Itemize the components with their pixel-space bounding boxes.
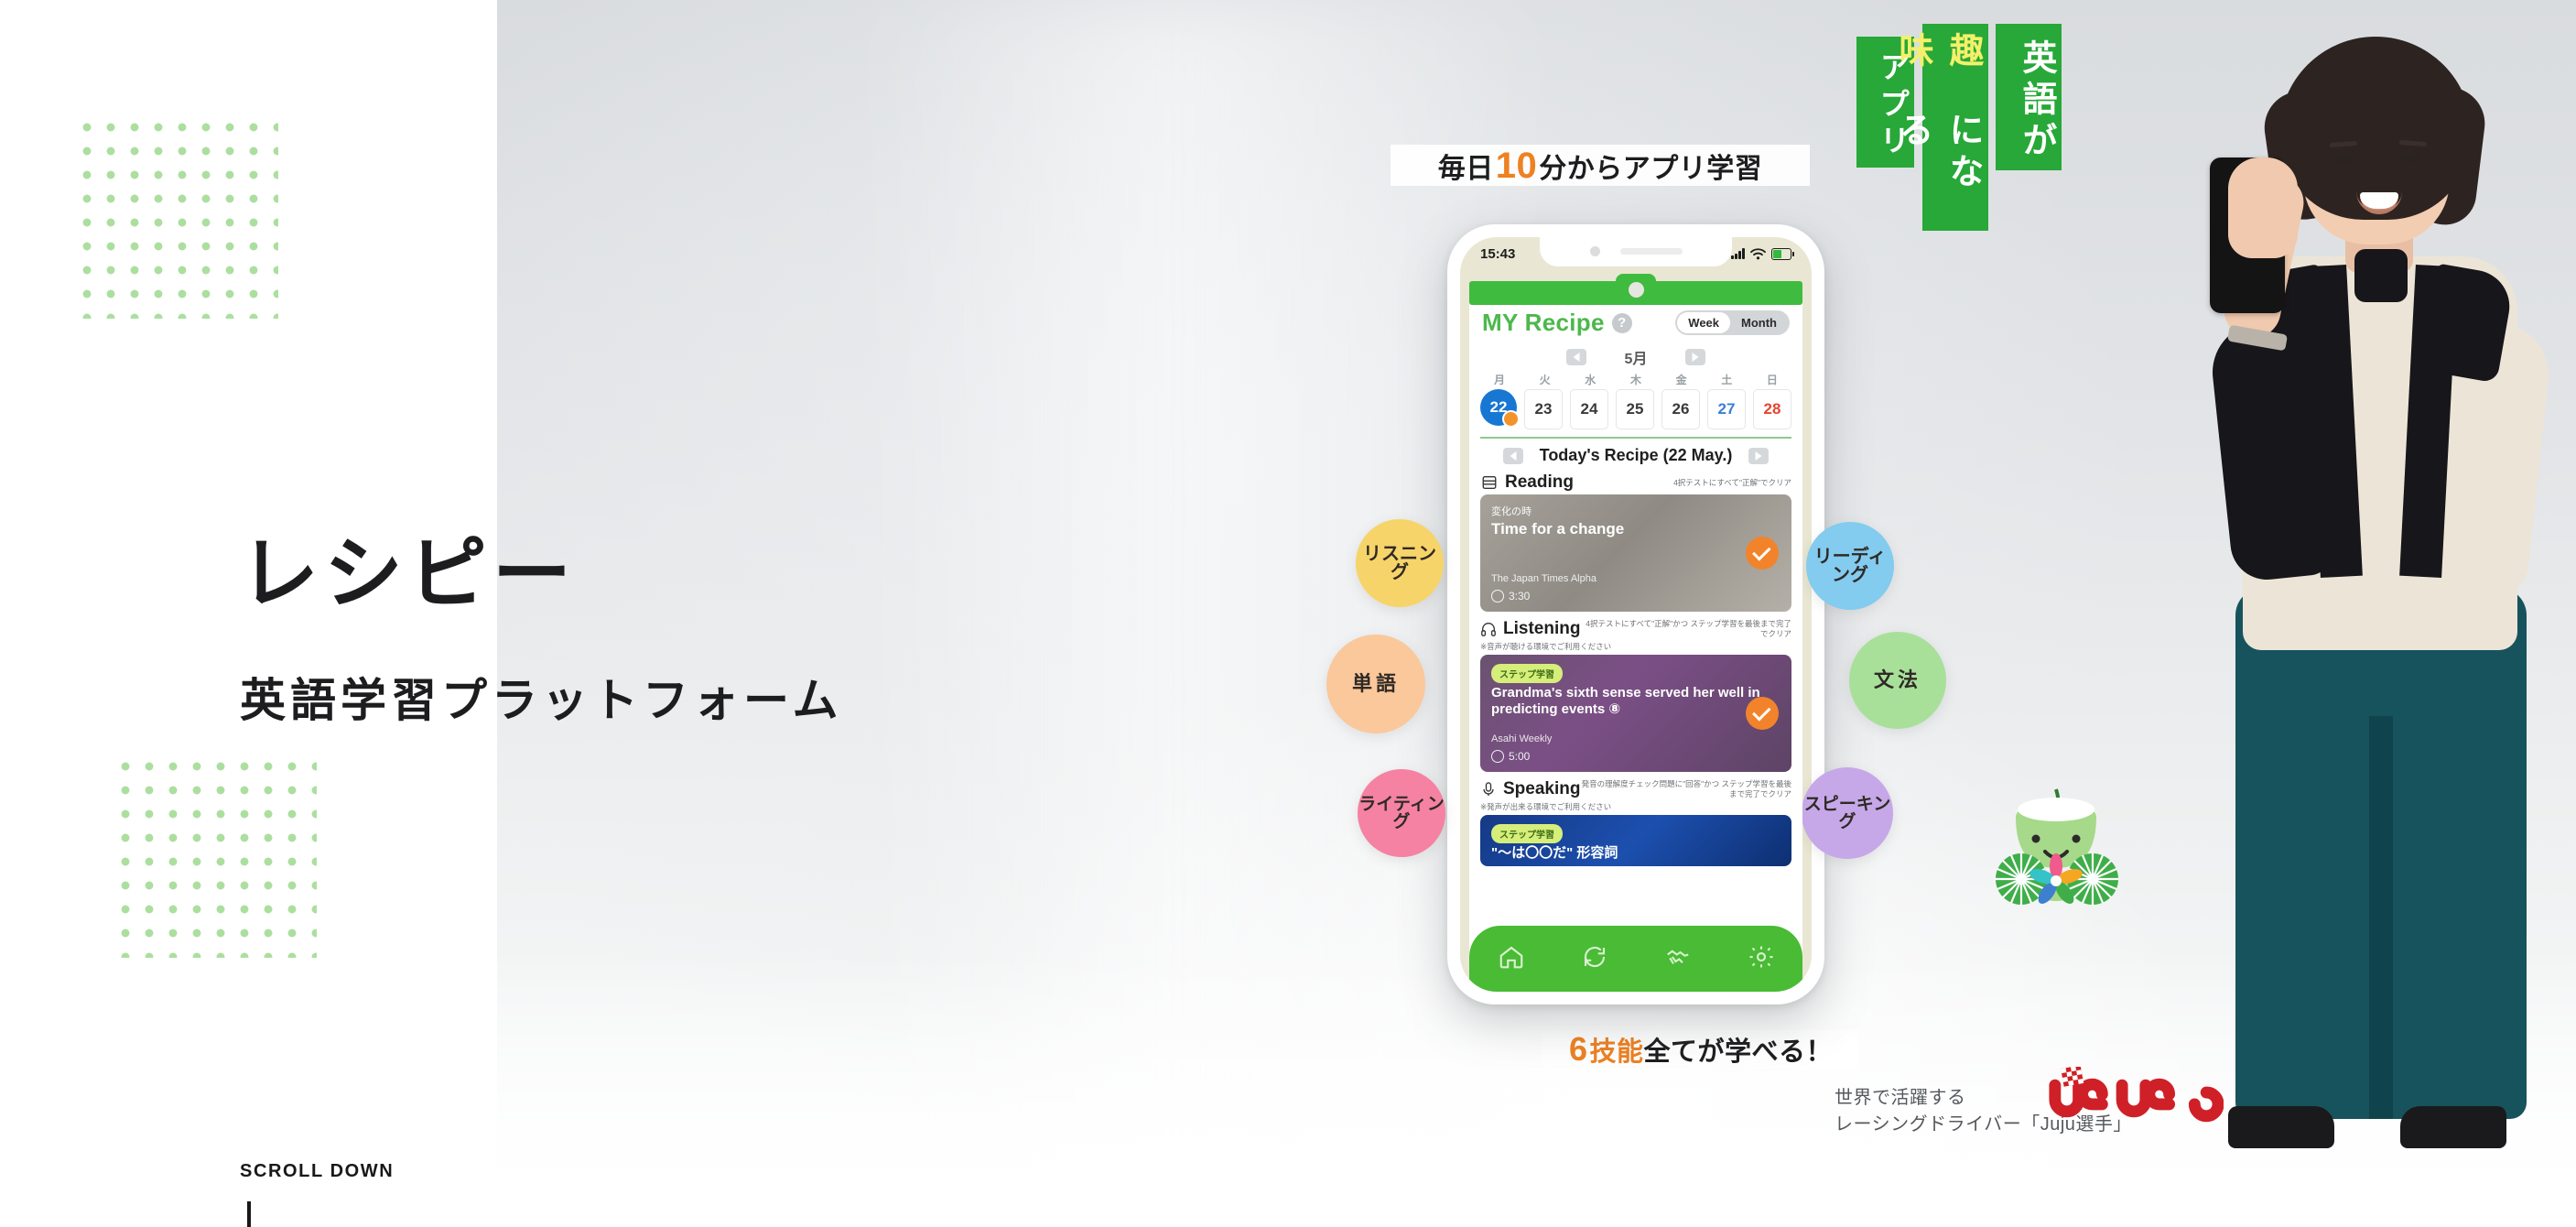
caption-top-number: 10 (1496, 147, 1538, 184)
segment-month[interactable]: Month (1730, 312, 1788, 333)
speaking-card[interactable]: ステップ学習 "〜は〇〇だ" 形容詞 (1480, 815, 1791, 866)
handshake-icon[interactable] (1664, 943, 1692, 975)
page-title: レシピー (240, 535, 577, 613)
banner-hobby: 趣味になる (1922, 24, 1988, 231)
bubble-grammar: 文法 (1849, 632, 1946, 729)
model-pants-split (2369, 716, 2393, 1119)
weekday-sun: 日 (1753, 372, 1791, 387)
listening-card-duration: 5:00 (1491, 750, 1530, 763)
weekday-thu: 木 (1617, 372, 1655, 387)
caption-bottom-number: 6 (1569, 1033, 1588, 1066)
todays-recipe-navigator: Today's Recipe (22 May.) (1469, 446, 1802, 465)
home-icon[interactable] (1498, 943, 1525, 975)
phone-mockup: 15:43 MY Recipe (1447, 224, 1824, 1004)
model-eye-right (2402, 155, 2420, 162)
dot-pattern-bottom (110, 751, 317, 958)
section-header-speaking: Speaking 発音の理解度チェック問題に"回答"かつ ステップ学習を最後まで… (1469, 772, 1802, 801)
calendar-day-26[interactable]: 26 (1661, 389, 1700, 429)
status-icons (1731, 248, 1791, 260)
listening-complete-check-icon (1746, 697, 1779, 730)
calendar-day-23[interactable]: 23 (1524, 389, 1563, 429)
wifi-icon (1750, 248, 1766, 260)
section-sub-listening: ※音声が聴ける環境でご利用ください (1469, 641, 1802, 655)
section-name-reading: Reading (1505, 472, 1574, 493)
refresh-icon[interactable] (1581, 943, 1608, 975)
reading-card-duration: 3:30 (1491, 590, 1530, 603)
bubble-speaking: スピーキング (1802, 767, 1893, 859)
clock-icon (1491, 750, 1504, 763)
segment-week[interactable]: Week (1677, 312, 1730, 333)
front-camera-icon (1590, 246, 1600, 256)
scroll-down-label[interactable]: SCROLL DOWN (240, 1161, 394, 1182)
calendar-day-27[interactable]: 27 (1707, 389, 1746, 429)
weekday-wed: 水 (1571, 372, 1609, 387)
mascot-icon (1964, 782, 2148, 965)
page-subtitle: 英語学習プラットフォーム (240, 678, 843, 723)
reading-duration-value: 3:30 (1509, 590, 1530, 603)
listening-step-badge: ステップ学習 (1491, 664, 1563, 683)
section-name-listening: Listening (1503, 619, 1580, 639)
listening-duration-value: 5:00 (1509, 750, 1530, 763)
calendar-day-28[interactable]: 28 (1753, 389, 1791, 429)
bubble-vocabulary: 単語 (1326, 635, 1425, 733)
bubble-vocabulary-label: 単語 (1352, 674, 1400, 694)
scroll-down-line (247, 1201, 251, 1227)
section-note-speaking: 発音の理解度チェック問題に"回答"かつ ステップ学習を最後まで完了でクリア (1580, 779, 1791, 798)
model-shoe-left (2228, 1106, 2334, 1148)
gear-icon[interactable] (1748, 943, 1775, 975)
caption-bottom-rest: 全てが学べる！ (1644, 1030, 1834, 1069)
app-bottom-nav (1469, 926, 1802, 992)
caption-six-skills: 6技能全てが学べる！ (1542, 1030, 1858, 1069)
caption-top-pre: 毎日 (1438, 146, 1494, 186)
calendar-day-25[interactable]: 25 (1616, 389, 1654, 429)
calendar-days: 22 23 24 25 26 27 28 (1469, 387, 1802, 429)
section-sub-speaking: ※発声が出来る環境でご利用ください (1469, 801, 1802, 815)
section-header-listening: Listening 4択テストにすべて"正解"かつ ステップ学習を最後まで完了で… (1469, 612, 1802, 641)
book-icon (1480, 473, 1499, 492)
app-title: MY Recipe (1482, 309, 1605, 337)
banner-hobby-highlight: 趣味 (1888, 32, 1988, 112)
model-shoe-right (2400, 1106, 2506, 1148)
hero-stage: レシピー 英語学習プラットフォーム SCROLL DOWN アプリ 趣味になる … (0, 0, 2576, 1227)
bubble-grammar-label: 文法 (1874, 670, 1921, 690)
earpiece-speaker (1620, 248, 1683, 255)
bubble-listening: リスニング (1356, 519, 1444, 607)
phone-screen: 15:43 MY Recipe (1460, 237, 1812, 992)
battery-icon (1771, 248, 1791, 260)
banner-hobby-rest: になる (1888, 112, 1988, 231)
dot-pattern-top (71, 112, 278, 319)
model-collar (2354, 249, 2408, 302)
weekday-tue: 火 (1526, 372, 1564, 387)
listening-card[interactable]: ステップ学習 Grandma's sixth sense served her … (1480, 655, 1791, 772)
next-month-icon[interactable] (1685, 349, 1705, 365)
current-month: 5月 (1625, 346, 1648, 368)
weekday-sat: 土 (1707, 372, 1746, 387)
reading-card-title: Time for a change (1491, 520, 1780, 538)
caption-top-post: 分からアプリ学習 (1539, 146, 1762, 186)
help-icon[interactable]: ? (1612, 313, 1632, 333)
bubble-writing: ライティング (1358, 769, 1445, 857)
speaking-step-badge: ステップ学習 (1491, 824, 1563, 843)
headphones-icon (1480, 620, 1497, 638)
bubble-listening-label: リスニング (1356, 545, 1444, 581)
bubble-speaking-label: スピーキング (1802, 796, 1893, 831)
weekday-mon: 月 (1480, 372, 1519, 387)
listening-card-source: Asahi Weekly (1491, 733, 1552, 744)
calendar-divider (1480, 437, 1791, 439)
weekday-header: 月 火 水 木 金 土 日 (1469, 368, 1802, 387)
prev-day-icon[interactable] (1503, 448, 1523, 464)
month-navigator: 5月 (1469, 346, 1802, 368)
caption-bottom-orange: 技能 (1590, 1030, 1644, 1069)
phone-notch (1540, 237, 1732, 266)
model-photo (2133, 20, 2576, 1227)
app-content: MY Recipe ? Week Month 5月 月 火 水 木 (1469, 296, 1802, 992)
model-eye-left (2334, 156, 2353, 163)
banner-english: 英語が (1996, 24, 2062, 170)
bubble-reading-label: リーディング (1806, 548, 1894, 584)
prev-month-icon[interactable] (1566, 349, 1586, 365)
listening-card-title: Grandma's sixth sense served her well in… (1491, 685, 1780, 718)
calendar-day-24[interactable]: 24 (1570, 389, 1608, 429)
period-segmented-control[interactable]: Week Month (1675, 310, 1790, 335)
banner-english-text: 英語が (2011, 39, 2062, 163)
section-header-reading: Reading 4択テストにすべて"正解"でクリア (1469, 465, 1802, 494)
bubble-writing-label: ライティング (1358, 796, 1445, 831)
caption-daily-10min: 毎日10分からアプリ学習 (1391, 145, 1810, 186)
next-day-icon[interactable] (1748, 448, 1769, 464)
model-hand (2228, 157, 2298, 258)
clock-icon (1491, 590, 1504, 603)
bubble-reading: リーディング (1806, 522, 1894, 610)
section-name-speaking: Speaking (1503, 779, 1580, 799)
section-note-reading: 4択テストにすべて"正解"でクリア (1673, 478, 1791, 488)
calendar-day-22[interactable]: 22 (1480, 389, 1517, 426)
reading-complete-check-icon (1746, 537, 1779, 570)
signal-icon (1731, 248, 1745, 259)
app-header-knob (1616, 274, 1656, 305)
reading-card[interactable]: 変化の時 Time for a change The Japan Times A… (1480, 494, 1791, 612)
todays-recipe-title: Today's Recipe (22 May.) (1540, 446, 1733, 465)
weekday-fri: 金 (1662, 372, 1701, 387)
reading-card-source: The Japan Times Alpha (1491, 573, 1596, 584)
speaking-card-title: "〜は〇〇だ" 形容詞 (1491, 845, 1780, 862)
reading-card-jp: 変化の時 (1491, 504, 1780, 518)
status-time: 15:43 (1480, 246, 1515, 262)
microphone-icon (1480, 780, 1497, 798)
section-note-listening: 4択テストにすべて"正解"かつ ステップ学習を最後まで完了でクリア (1580, 619, 1791, 638)
